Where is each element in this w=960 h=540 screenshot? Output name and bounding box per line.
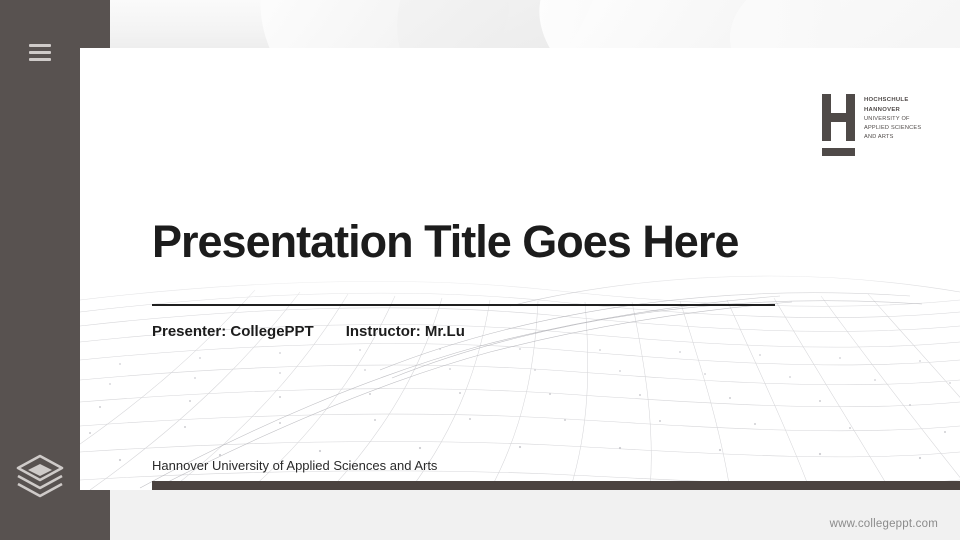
hamburger-icon[interactable] [29, 44, 51, 61]
page-footer-area [110, 490, 960, 540]
wireframe-mesh-graphic [80, 260, 960, 490]
byline: Presenter: CollegePPT Instructor: Mr.Lu [152, 323, 465, 340]
logo-wordmark: HOCHSCHULE HANNOVER UNIVERSITY OF APPLIE… [864, 94, 921, 142]
logo-line-2: HANNOVER [864, 106, 921, 116]
university-logo: HOCHSCHULE HANNOVER UNIVERSITY OF APPLIE… [822, 94, 921, 156]
hamburger-bar [29, 44, 51, 47]
presenter-label[interactable]: Presenter: CollegePPT [152, 323, 314, 340]
logo-h-mark [822, 94, 855, 156]
hamburger-bar [29, 51, 51, 54]
logo-letter-h-icon [822, 94, 855, 141]
logo-line-3: UNIVERSITY OF [864, 115, 921, 124]
instructor-label[interactable]: Instructor: Mr.Lu [346, 323, 465, 340]
title-divider [152, 304, 775, 306]
layers-icon[interactable] [14, 450, 66, 502]
background-abstract-shapes [110, 0, 960, 48]
bg-shape-4 [730, 0, 960, 48]
logo-line-5: AND ARTS [864, 133, 921, 142]
app-root: HOCHSCHULE HANNOVER UNIVERSITY OF APPLIE… [0, 0, 960, 540]
watermark: www.collegeppt.com [830, 518, 938, 530]
slide-footer-text: Hannover University of Applied Sciences … [152, 458, 437, 473]
slide-footer-bar [152, 481, 960, 490]
logo-underbar [822, 148, 855, 156]
hamburger-bar [29, 58, 51, 61]
slide-canvas[interactable]: HOCHSCHULE HANNOVER UNIVERSITY OF APPLIE… [80, 48, 960, 490]
logo-line-1: HOCHSCHULE [864, 96, 921, 106]
logo-line-4: APPLIED SCIENCES [864, 124, 921, 133]
presentation-title[interactable]: Presentation Title Goes Here [152, 216, 738, 268]
